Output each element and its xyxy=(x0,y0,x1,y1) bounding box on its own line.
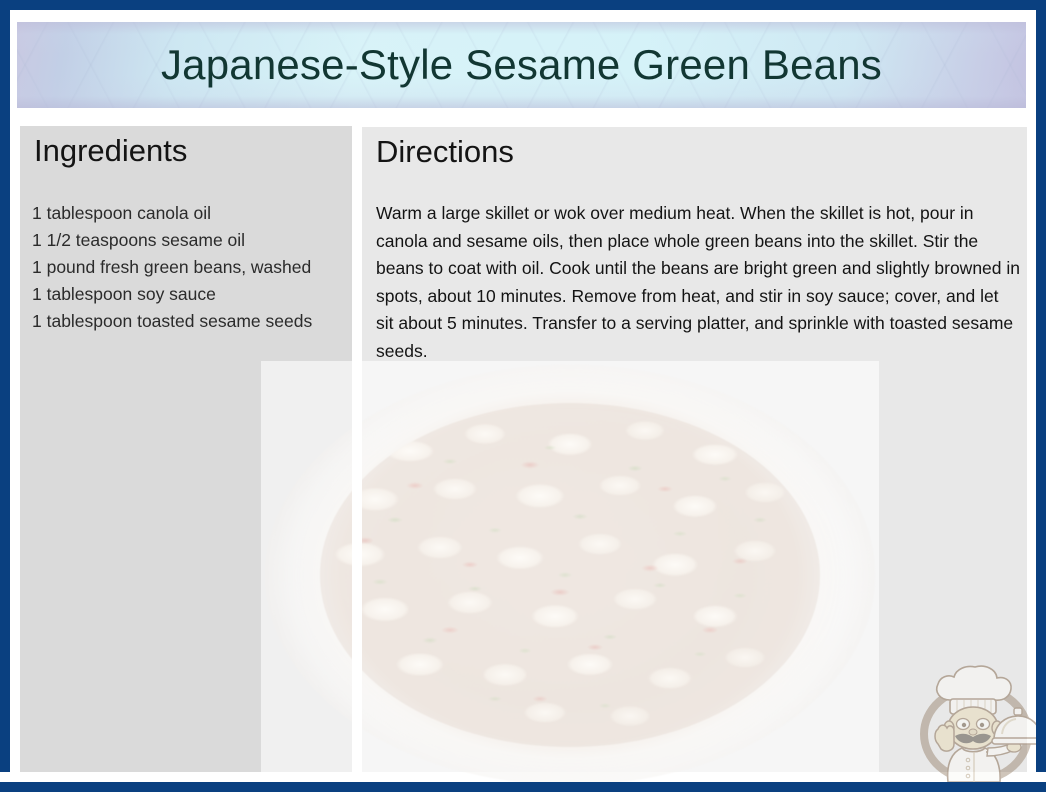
title-banner: Japanese-Style Sesame Green Beans xyxy=(17,22,1026,108)
chef-mascot-logo xyxy=(910,648,1036,782)
ingredients-list: 1 tablespoon canola oil 1 1/2 teaspoons … xyxy=(32,200,344,335)
directions-tab: Directions xyxy=(362,127,528,178)
directions-body: Warm a large skillet or wok over medium … xyxy=(376,200,1020,365)
page-title: Japanese-Style Sesame Green Beans xyxy=(17,22,1026,108)
panel-gutter xyxy=(352,126,362,782)
list-item: 1 pound fresh green beans, washed xyxy=(32,254,344,281)
list-item: 1 tablespoon toasted sesame seeds xyxy=(32,308,344,335)
recipe-slide: Japanese-Style Sesame Green Beans Ingred… xyxy=(0,0,1046,792)
ingredients-tab: Ingredients xyxy=(20,126,201,176)
list-item: 1 tablespoon soy sauce xyxy=(32,281,344,308)
bottom-white-strip xyxy=(0,772,1046,782)
slide-content-area: Japanese-Style Sesame Green Beans Ingred… xyxy=(10,10,1036,782)
ingredients-heading: Ingredients xyxy=(34,126,187,176)
directions-heading: Directions xyxy=(376,127,514,177)
directions-text: Warm a large skillet or wok over medium … xyxy=(376,200,1020,365)
list-item: 1 tablespoon canola oil xyxy=(32,200,344,227)
list-item: 1 1/2 teaspoons sesame oil xyxy=(32,227,344,254)
